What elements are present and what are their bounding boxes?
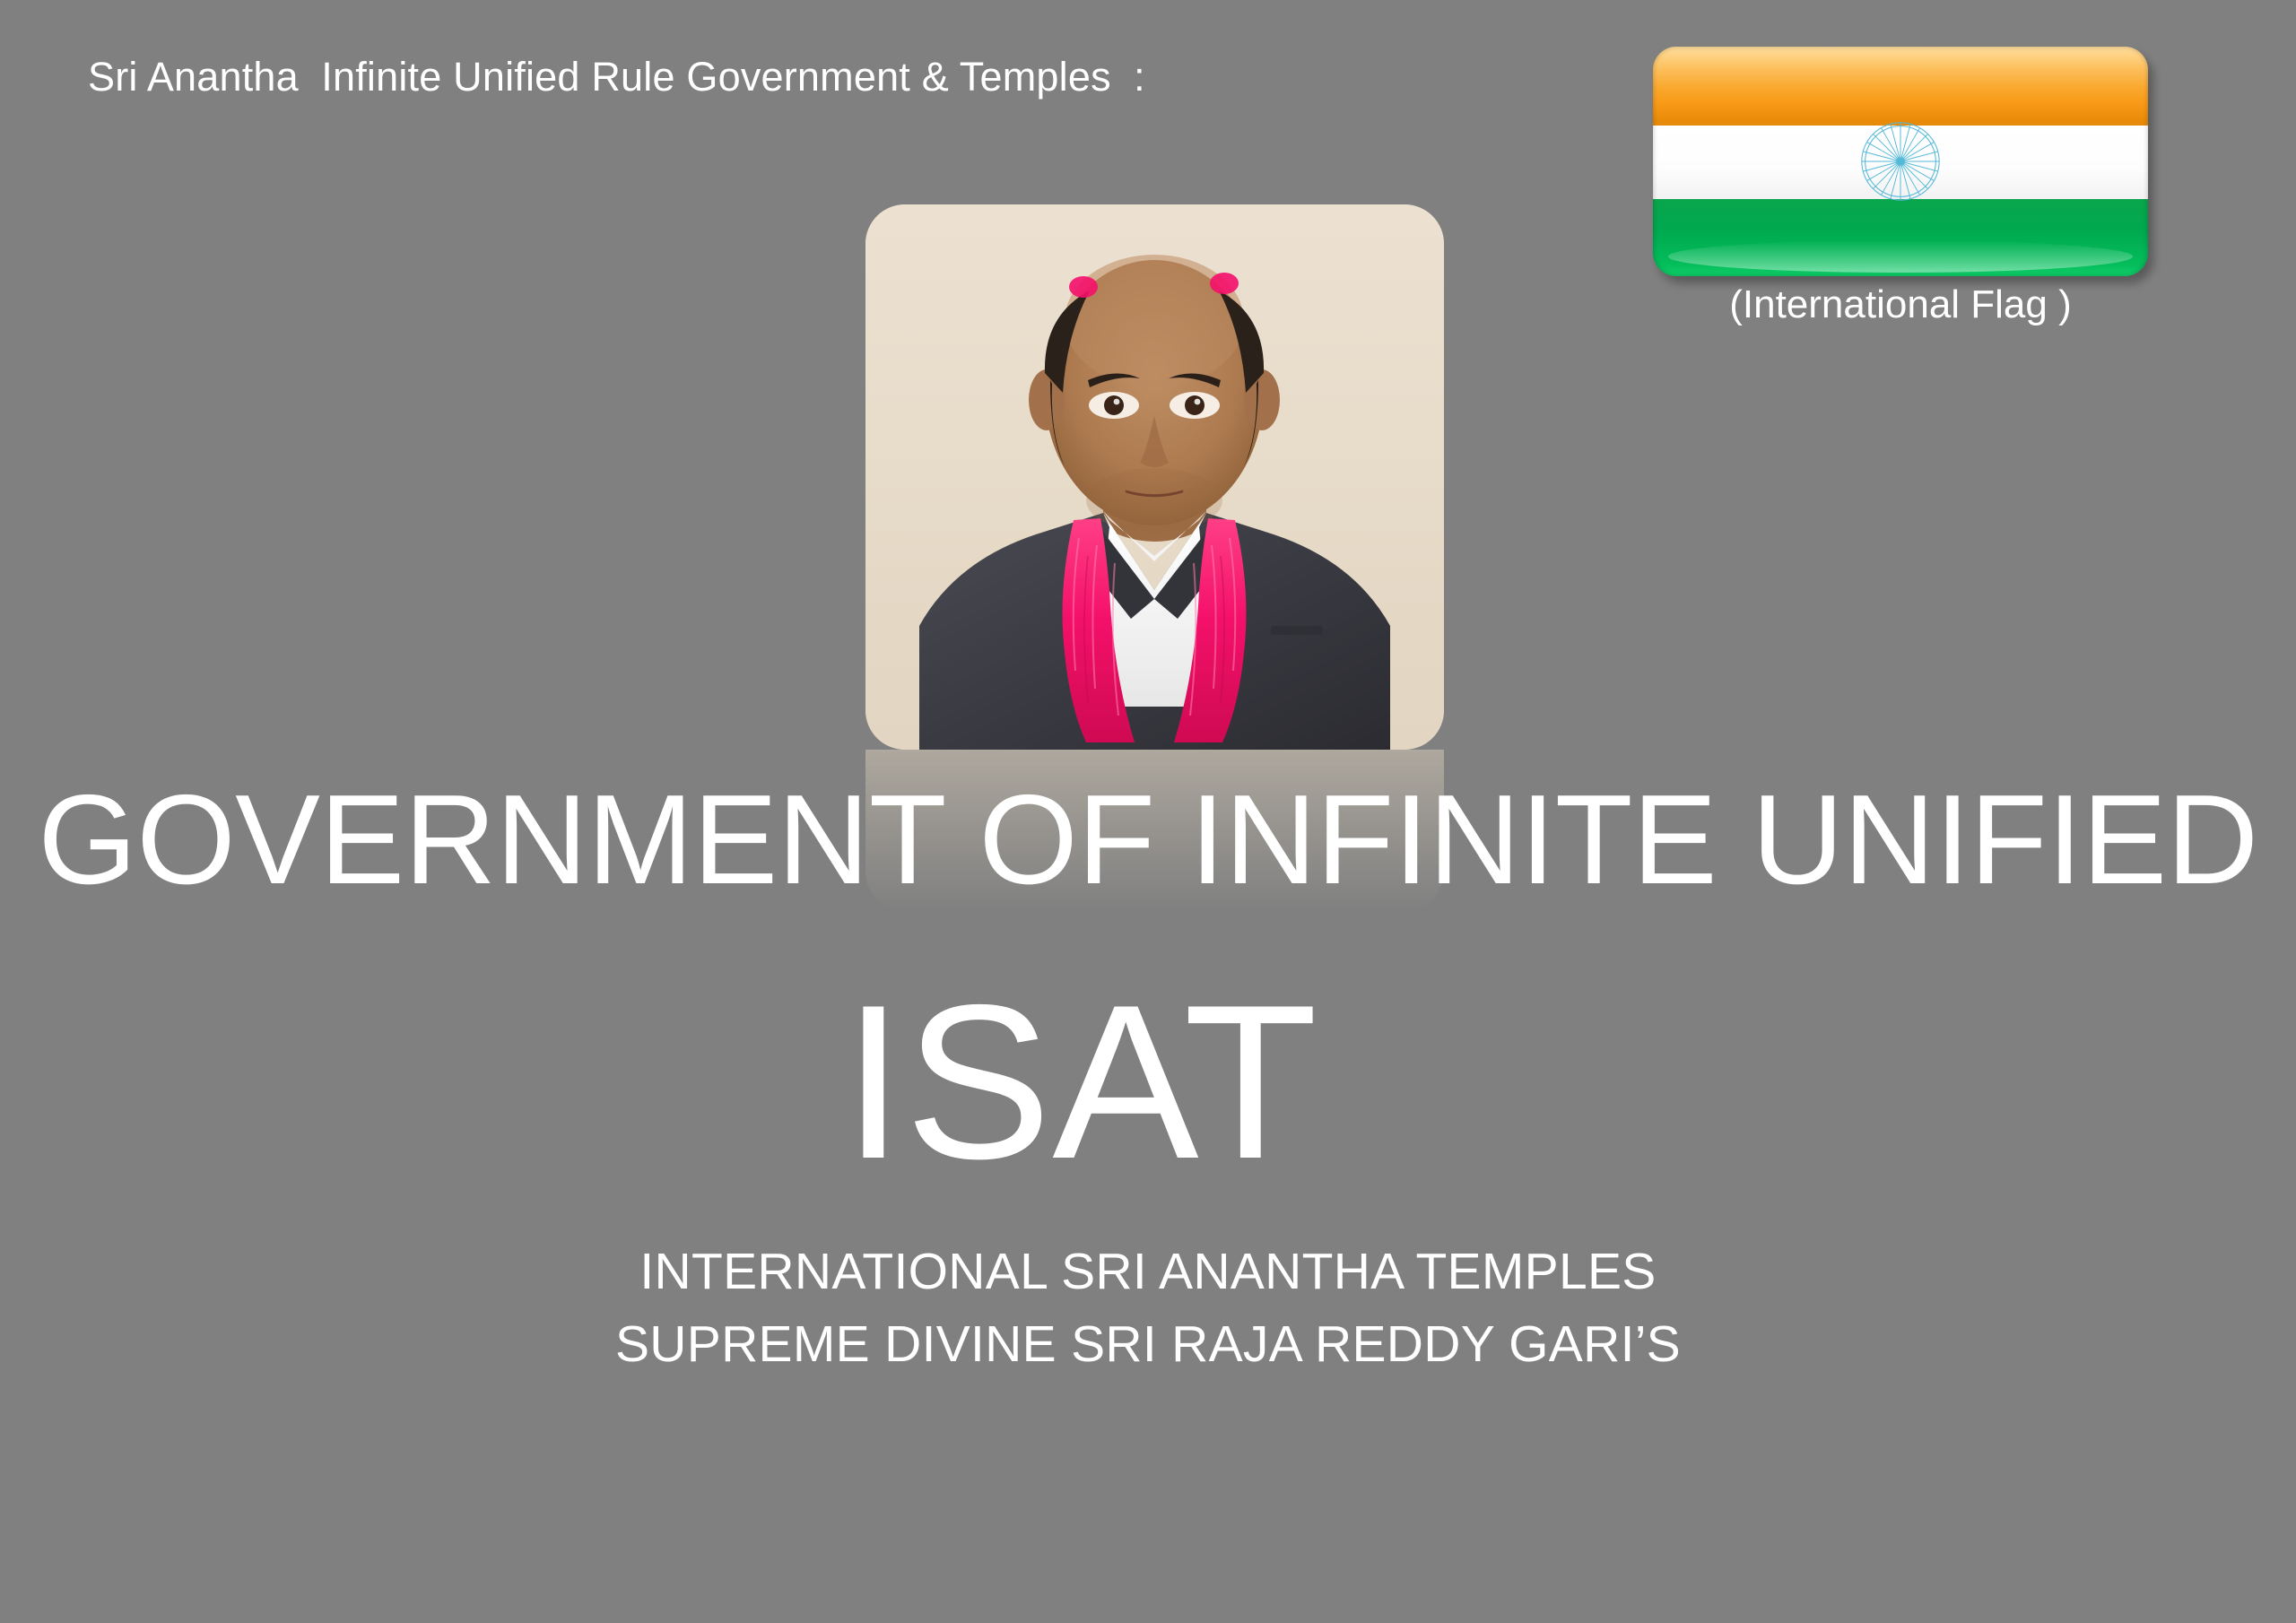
subtitle-line-2: SUPREME DIVINE SRI RAJA REDDY GARI’S [0,1308,2296,1381]
presentation-slide: Sri Anantha Infinite Unified Rule Govern… [0,0,2296,1623]
flag-green-band [1653,199,2148,276]
main-title: GOVERNMENT OF INFINITE UNIFIED [0,773,2296,907]
indian-flag-icon [1653,47,2148,276]
flag-block: (International Flag ) [1653,47,2148,326]
subtitle-block: INTERNATIONAL SRI ANANTHA TEMPLES SUPREM… [0,1236,2296,1381]
acronym-title: ISAT [0,967,2161,1197]
flag-white-band [1653,126,2148,199]
portrait-photo [865,204,1444,750]
flag-saffron-band [1653,47,2148,126]
portrait-block [865,204,1444,750]
header-title: Sri Anantha Infinite Unified Rule Govern… [88,54,1145,100]
subtitle-line-1: INTERNATIONAL SRI ANANTHA TEMPLES [0,1236,2296,1308]
reflection-sheen [865,750,1444,752]
flag-caption: (International Flag ) [1653,283,2148,326]
